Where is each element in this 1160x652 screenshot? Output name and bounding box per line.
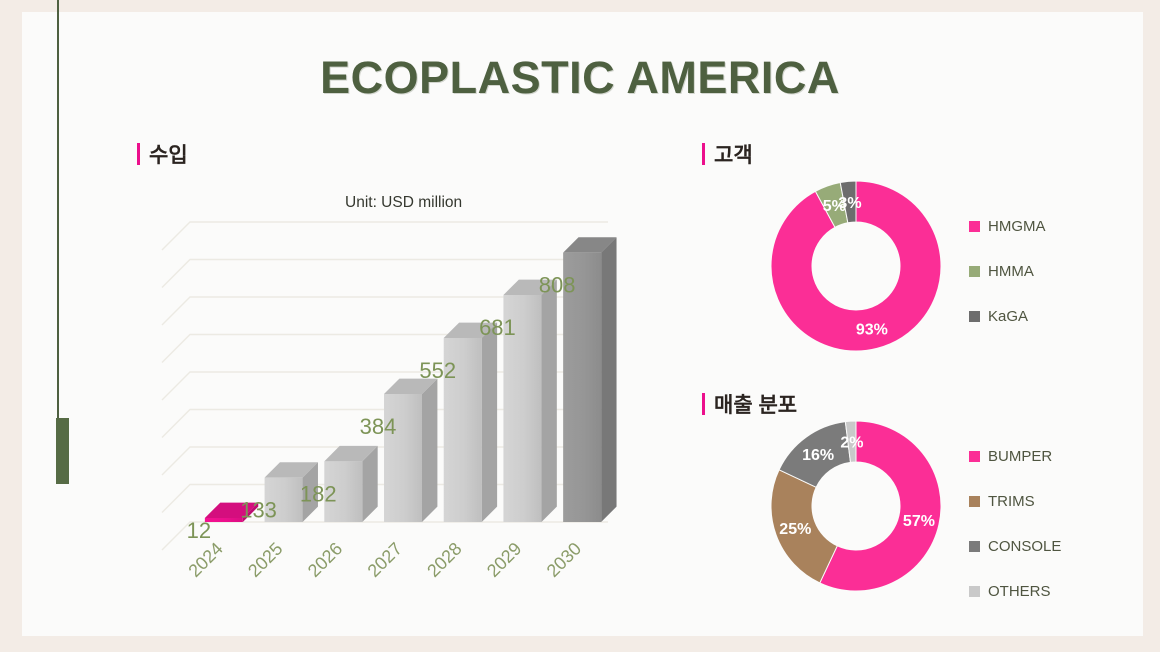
- section-label-customer: 고객: [714, 139, 753, 169]
- bar-side: [482, 323, 497, 522]
- legend-swatch-icon: [969, 586, 980, 597]
- legend-item-console: CONSOLE: [969, 524, 1061, 569]
- legend-swatch-icon: [969, 451, 980, 462]
- page-title: ECOPLASTIC AMERICA: [0, 52, 1160, 104]
- section-marker-icon: [137, 143, 140, 165]
- pie-slice-value-label: 57%: [903, 513, 935, 530]
- legend-label: CONSOLE: [988, 538, 1061, 555]
- bar-value-label: 133: [240, 498, 277, 523]
- legend-item-kaga: KaGA: [969, 294, 1046, 339]
- bar-value-label: 808: [539, 273, 576, 298]
- legend-label: HMMA: [988, 263, 1034, 280]
- section-header-revenue: 수입: [137, 139, 188, 169]
- revenue-bar-chart: 1220241332025182202638420275522028681202…: [140, 185, 640, 605]
- legend-label: BUMPER: [988, 448, 1052, 465]
- slide-canvas: ECOPLASTIC AMERICA 수입 고객 매출 분포 Unit: USD…: [0, 0, 1160, 652]
- section-label-revenue: 수입: [149, 139, 188, 169]
- x-axis-tick-label: 2026: [304, 539, 346, 581]
- revenue-bar-chart-svg: 1220241332025182202638420275522028681202…: [140, 185, 640, 605]
- customer-donut-svg: 93%5%3%: [756, 166, 956, 366]
- bar-value-label: 681: [479, 315, 516, 340]
- legend-swatch-icon: [969, 266, 980, 277]
- bar-2028: [444, 323, 497, 522]
- legend-label: OTHERS: [988, 583, 1051, 600]
- legend-item-trims: TRIMS: [969, 479, 1061, 524]
- legend-item-hmgma: HMGMA: [969, 204, 1046, 249]
- bar-side: [541, 280, 556, 522]
- legend-label: HMGMA: [988, 218, 1046, 235]
- pie-slice-value-label: 16%: [802, 447, 834, 464]
- x-axis-tick-label: 2029: [483, 539, 525, 581]
- legend-label: KaGA: [988, 308, 1028, 325]
- left-accent-block: [56, 418, 69, 484]
- x-axis-tick-label: 2025: [244, 539, 286, 581]
- section-header-customer: 고객: [702, 139, 753, 169]
- section-marker-icon: [702, 393, 705, 415]
- pie-slice-value-label: 3%: [838, 195, 861, 212]
- sales-donut-chart: 57%25%16%2%: [756, 406, 956, 606]
- pie-slice-value-label: 25%: [779, 521, 811, 538]
- pie-slice-value-label: 2%: [840, 435, 863, 452]
- sales-donut-legend: BUMPERTRIMSCONSOLEOTHERS: [969, 434, 1061, 614]
- legend-swatch-icon: [969, 496, 980, 507]
- section-marker-icon: [702, 143, 705, 165]
- bar-value-label: 552: [419, 358, 456, 383]
- bar-side: [422, 379, 437, 522]
- x-axis-tick-label: 2027: [364, 539, 406, 581]
- bar-side: [601, 237, 616, 522]
- bar-value-label: 182: [300, 481, 337, 506]
- legend-swatch-icon: [969, 541, 980, 552]
- legend-item-bumper: BUMPER: [969, 434, 1061, 479]
- bar-value-label: 384: [360, 414, 397, 439]
- bar-2027: [384, 379, 437, 522]
- customer-donut-legend: HMGMAHMMAKaGA: [969, 204, 1046, 339]
- legend-item-hmma: HMMA: [969, 249, 1046, 294]
- legend-swatch-icon: [969, 311, 980, 322]
- x-axis-tick-label: 2024: [184, 539, 226, 581]
- x-axis-tick-label: 2028: [423, 539, 465, 581]
- x-axis-tick-label: 2030: [543, 539, 585, 581]
- pie-slice-value-label: 93%: [856, 322, 888, 339]
- bar-value-label: 12: [187, 518, 211, 543]
- sales-donut-svg: 57%25%16%2%: [756, 406, 956, 606]
- gridline: [162, 222, 608, 250]
- customer-donut-chart: 93%5%3%: [756, 166, 956, 366]
- legend-swatch-icon: [969, 221, 980, 232]
- legend-label: TRIMS: [988, 493, 1035, 510]
- legend-item-others: OTHERS: [969, 569, 1061, 614]
